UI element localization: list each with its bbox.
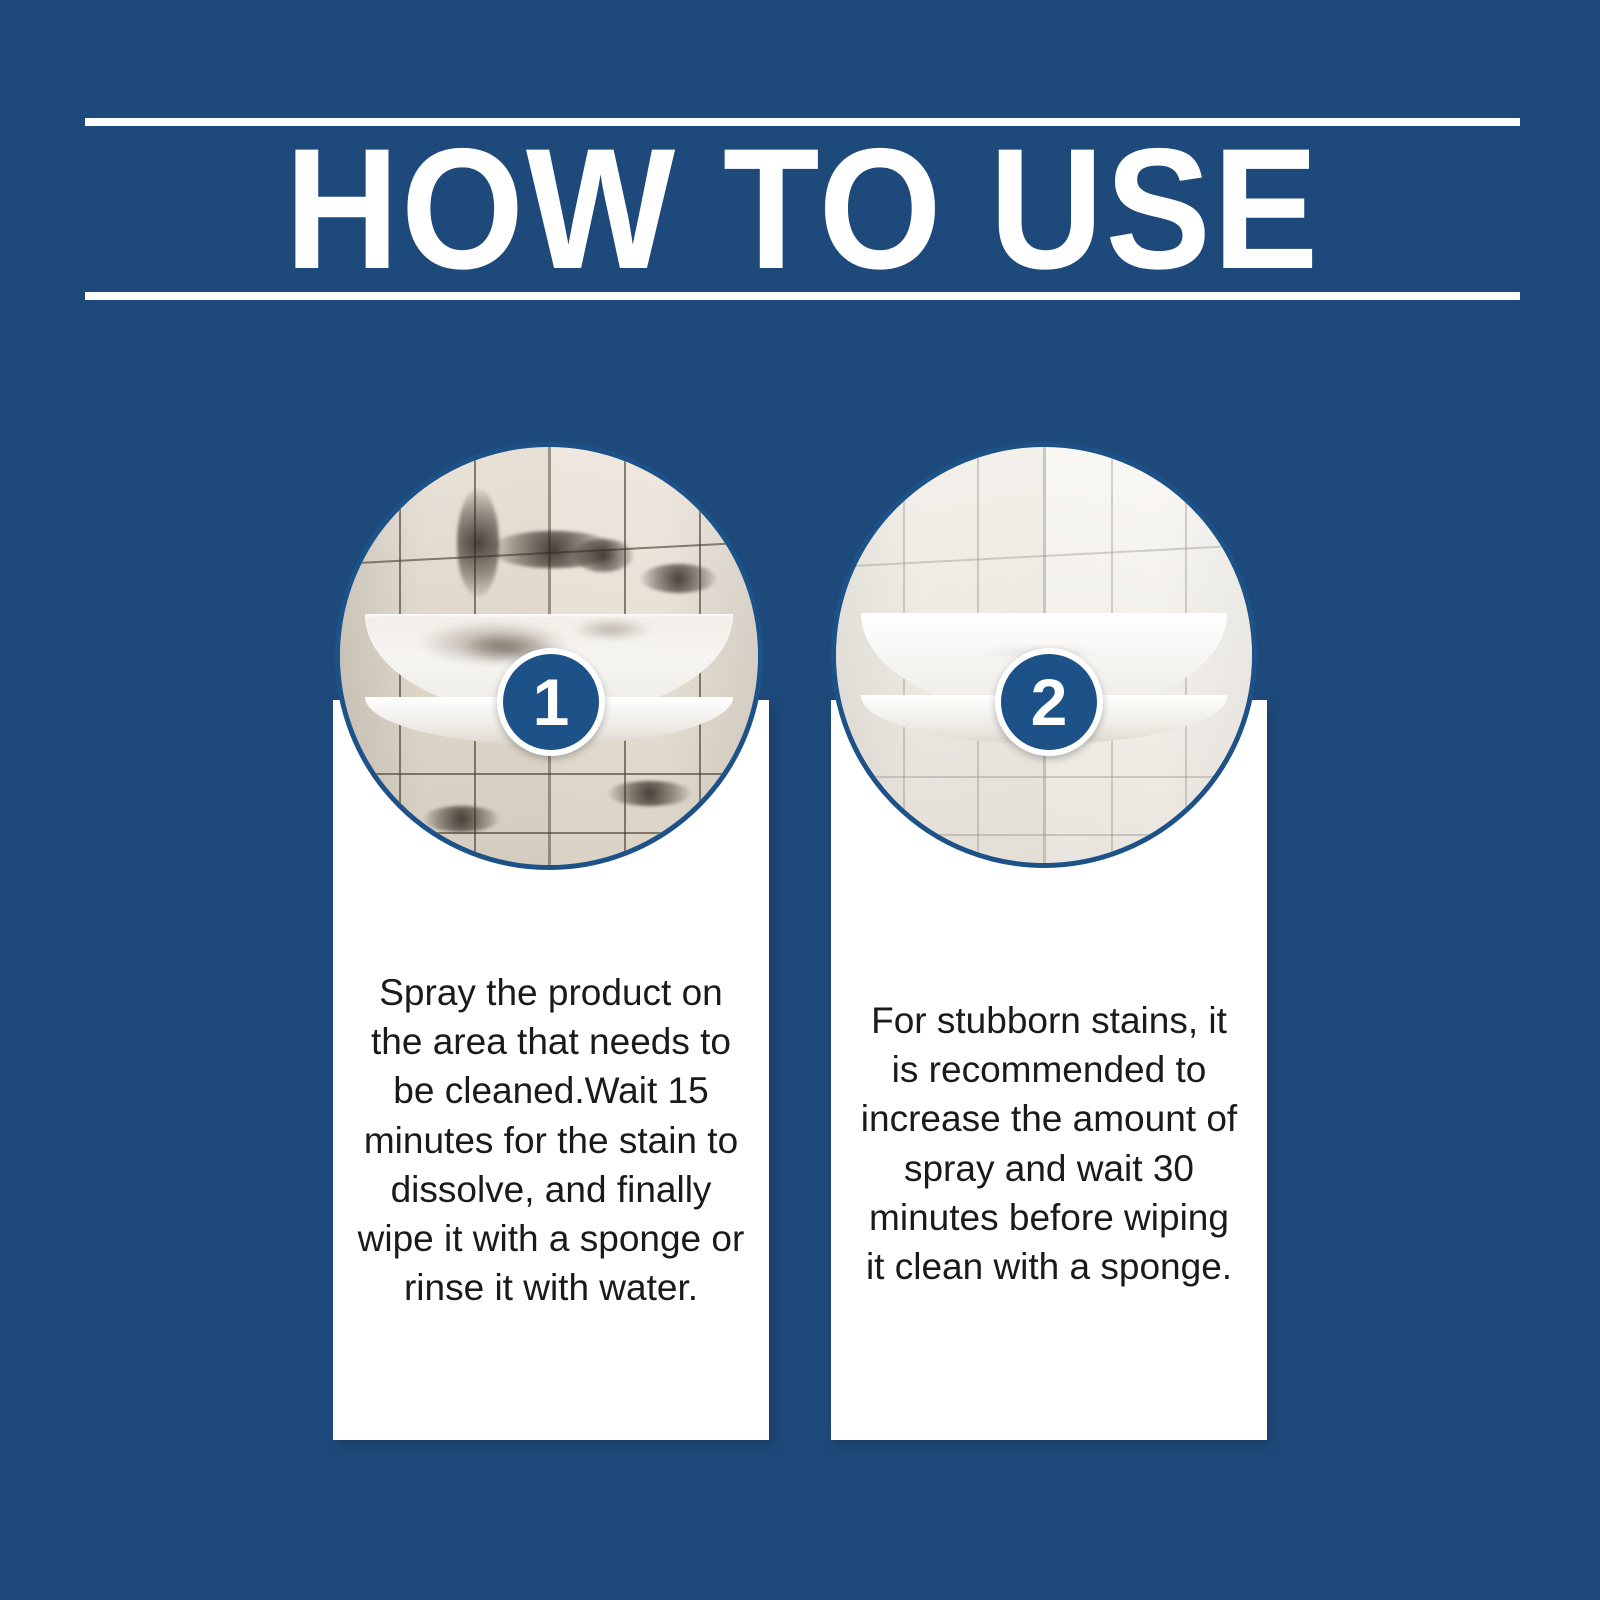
step-2-number-badge: 2 [995,648,1103,756]
mold-stain [424,806,499,831]
mold-stain [574,539,633,572]
step-card-2: 2 For stubborn stains, it is recommended… [831,700,1267,1440]
grout-line [836,834,1252,836]
steps-container: 1 Spray the product on the area that nee… [0,0,1600,1600]
grout-line [340,832,758,834]
grout-line [836,776,1252,778]
step-1-number-badge: 1 [497,648,605,756]
step-card-1: 1 Spray the product on the area that nee… [333,700,769,1440]
step-2-description: For stubborn stains, it is recommended t… [855,996,1243,1291]
step-1-description: Spray the product on the area that needs… [357,968,745,1312]
shelf-stain [571,618,652,641]
grout-line [340,773,758,775]
